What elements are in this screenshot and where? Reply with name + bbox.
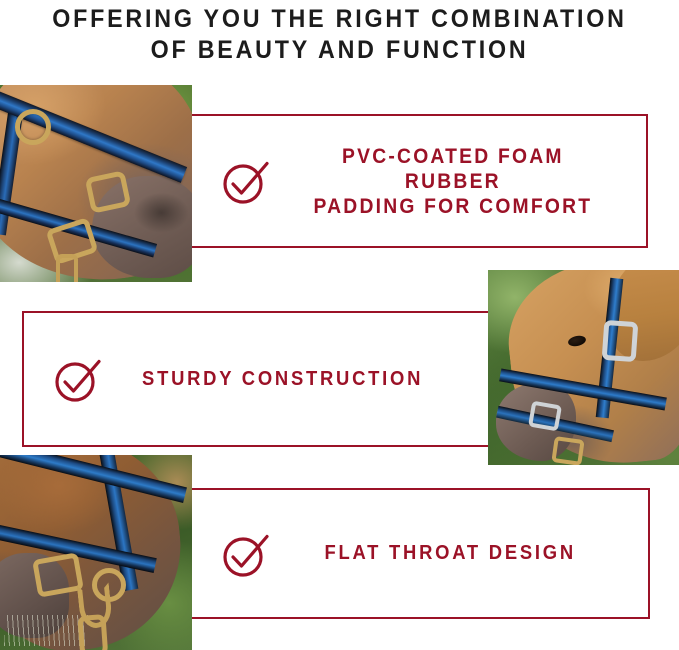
product-photo-muzzle <box>0 85 192 282</box>
feature-label-sturdy: STURDY CONSTRUCTION <box>127 367 475 392</box>
check-circle-icon <box>220 155 272 207</box>
product-photo-head-profile <box>488 270 679 465</box>
check-circle-icon <box>220 528 272 580</box>
product-photo-throat <box>0 455 192 650</box>
halter-buckle-cheek <box>528 400 562 431</box>
page-title: OFFERING YOU THE RIGHT COMBINATION OF BE… <box>0 0 679 66</box>
halter-buckle-chin <box>551 436 584 465</box>
feature-label-padding: PVC-COATED FOAM RUBBER PADDING FOR COMFO… <box>295 144 632 219</box>
feature-label-throat: FLAT THROAT DESIGN <box>295 541 634 566</box>
halter-buckle-crown <box>601 320 638 362</box>
feature-box-padding: PVC-COATED FOAM RUBBER PADDING FOR COMFO… <box>192 114 648 248</box>
check-circle-icon <box>52 353 104 405</box>
page-title-line-2: OF BEAUTY AND FUNCTION <box>24 35 655 66</box>
horse-whiskers <box>4 615 88 646</box>
feature-box-throat: FLAT THROAT DESIGN <box>192 488 650 619</box>
halter-snap-body <box>77 614 108 650</box>
halter-ring <box>15 109 51 145</box>
feature-box-sturdy: STURDY CONSTRUCTION <box>22 311 490 447</box>
halter-snap-clip <box>56 254 78 282</box>
page-title-line-1: OFFERING YOU THE RIGHT COMBINATION <box>24 4 655 35</box>
